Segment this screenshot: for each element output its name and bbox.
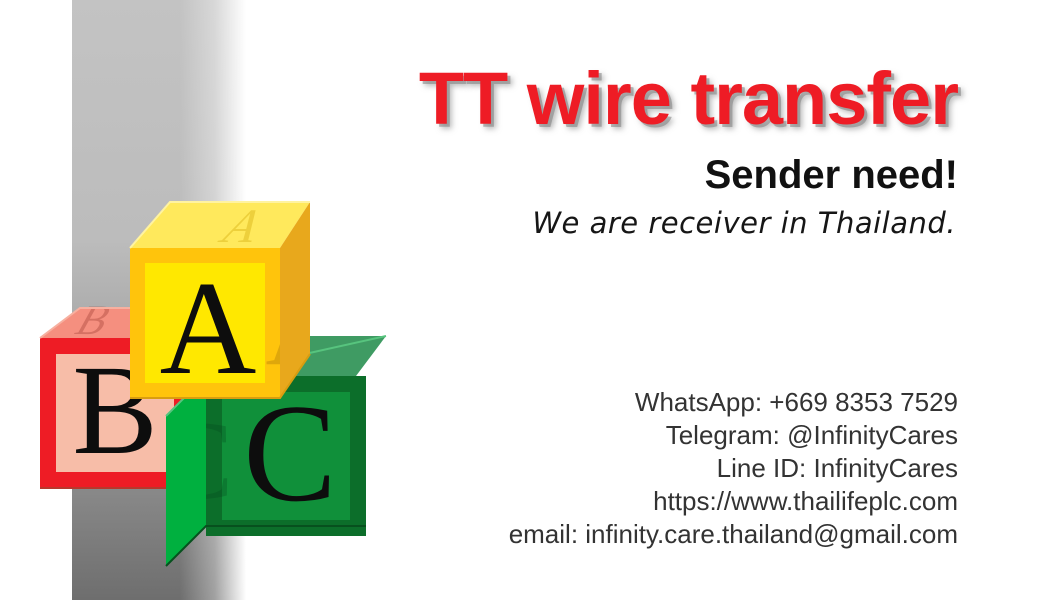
contact-telegram: Telegram: @InfinityCares	[270, 419, 958, 452]
headline: TT wire transfer	[270, 60, 958, 138]
text-column: TT wire transfer Sender need! We are rec…	[270, 0, 958, 600]
banner-root: B B B	[0, 0, 1063, 600]
contact-line-id: Line ID: InfinityCares	[270, 452, 958, 485]
contact-list: WhatsApp: +669 8353 7529 Telegram: @Infi…	[270, 386, 958, 551]
tagline: We are receiver in Thailand.	[268, 203, 956, 243]
subheadline: Sender need!	[270, 152, 958, 198]
contact-whatsapp: WhatsApp: +669 8353 7529	[270, 386, 958, 419]
svg-text:A: A	[160, 254, 257, 402]
contact-website[interactable]: https://www.thailifeplc.com	[270, 485, 958, 518]
contact-email[interactable]: email: infinity.care.thailand@gmail.com	[270, 518, 958, 551]
